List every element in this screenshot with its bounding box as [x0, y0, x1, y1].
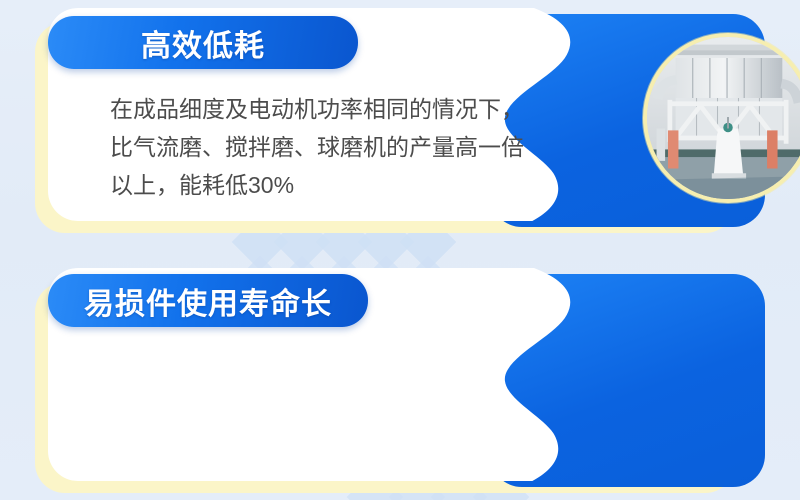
card-title-badge-1: 高效低耗	[48, 16, 358, 69]
feature-card-1[interactable]: 高效低耗	[35, 8, 765, 233]
card-title-badge-2: 易损件使用寿命长	[48, 274, 368, 327]
factory-photo-illustration-1	[647, 37, 800, 199]
infographic-canvas: 高效低耗	[0, 0, 800, 500]
card-title-text-2: 易损件使用寿命长	[84, 279, 332, 323]
card-title-text-1: 高效低耗	[141, 21, 265, 65]
card-photo-1[interactable]	[643, 33, 800, 203]
feature-card-2[interactable]: 易损件使用寿命长	[35, 268, 765, 493]
card-body-text-1: 在成品细度及电动机功率相同的情况下，比气流磨、搅拌磨、球磨机的产量高一倍以上，能…	[110, 90, 540, 204]
